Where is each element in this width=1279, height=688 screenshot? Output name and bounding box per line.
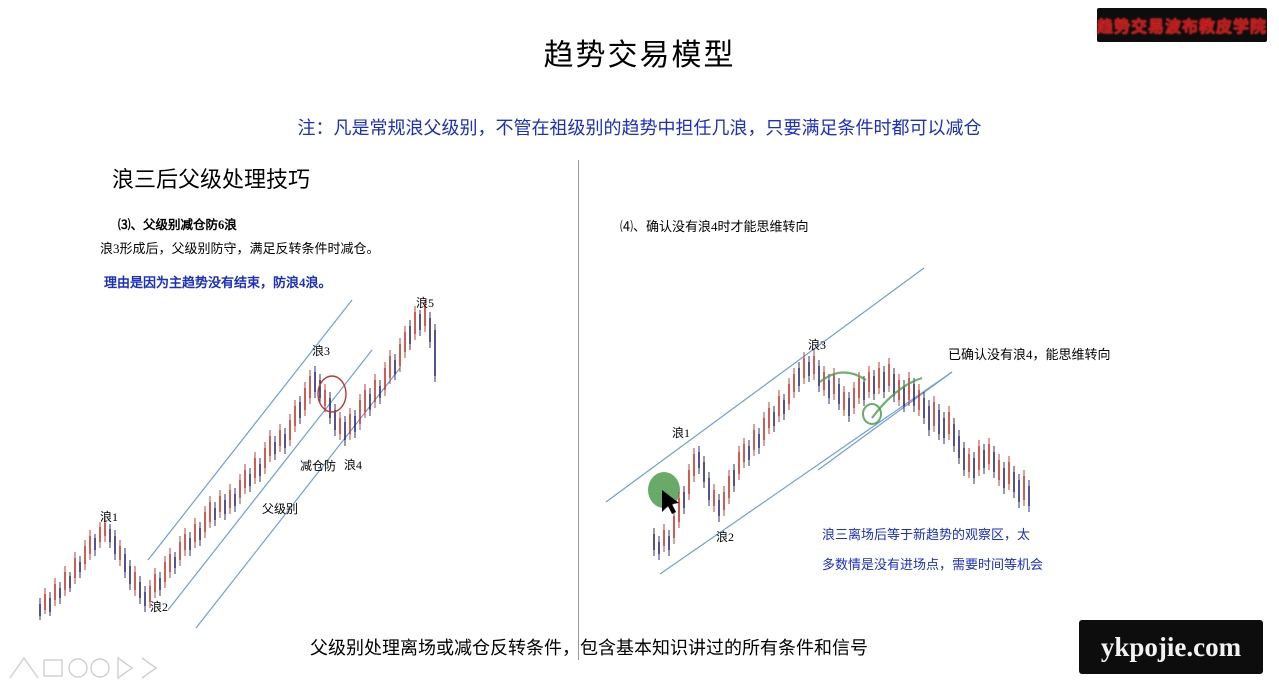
- right-channel-mid: [818, 372, 952, 470]
- watermark-url-text: ykpojie.com: [1101, 632, 1241, 663]
- left-wave-label-4: 浪4: [344, 456, 362, 473]
- right-green-circle: [863, 404, 881, 424]
- left-parent-level-label: 父级别: [262, 500, 298, 517]
- left-wave-label-3: 浪3: [312, 342, 330, 359]
- watermark-url: ykpojie.com: [1079, 620, 1263, 674]
- right-wave-label-3: 浪3: [808, 336, 826, 353]
- left-wave-label-1: 浪1: [100, 508, 118, 525]
- left-wave-label-5: 浪5: [416, 294, 434, 311]
- left-wave-label-2: 浪2: [150, 598, 168, 615]
- left-candles: [40, 300, 435, 620]
- footer-note: 父级别处理离场或减仓反转条件，包含基本知识讲过的所有条件和信号: [310, 634, 868, 660]
- left-highlight-circle: [318, 376, 346, 412]
- right-wave-label-2: 浪2: [716, 528, 734, 545]
- slide-page: 趋势交易模型 趋势交易波布教皮学院 注：凡是常规浪父级别，不管在祖级别的趋势中担…: [0, 0, 1279, 688]
- right-wave-label-1: 浪1: [672, 424, 690, 441]
- left-candlestick-chart: [40, 300, 435, 628]
- right-candlestick-chart: [606, 268, 1029, 574]
- left-channel-upper: [148, 300, 352, 560]
- left-reduce-position-label: 减仓防: [300, 457, 336, 474]
- charts-canvas: .cu { stroke: #c0271b; stroke-width: 1.5…: [0, 0, 1279, 688]
- right-candles: [654, 350, 1029, 560]
- toolbar-icons: [10, 658, 156, 678]
- left-channel-lower: [168, 350, 372, 610]
- right-channel-upper: [606, 268, 924, 502]
